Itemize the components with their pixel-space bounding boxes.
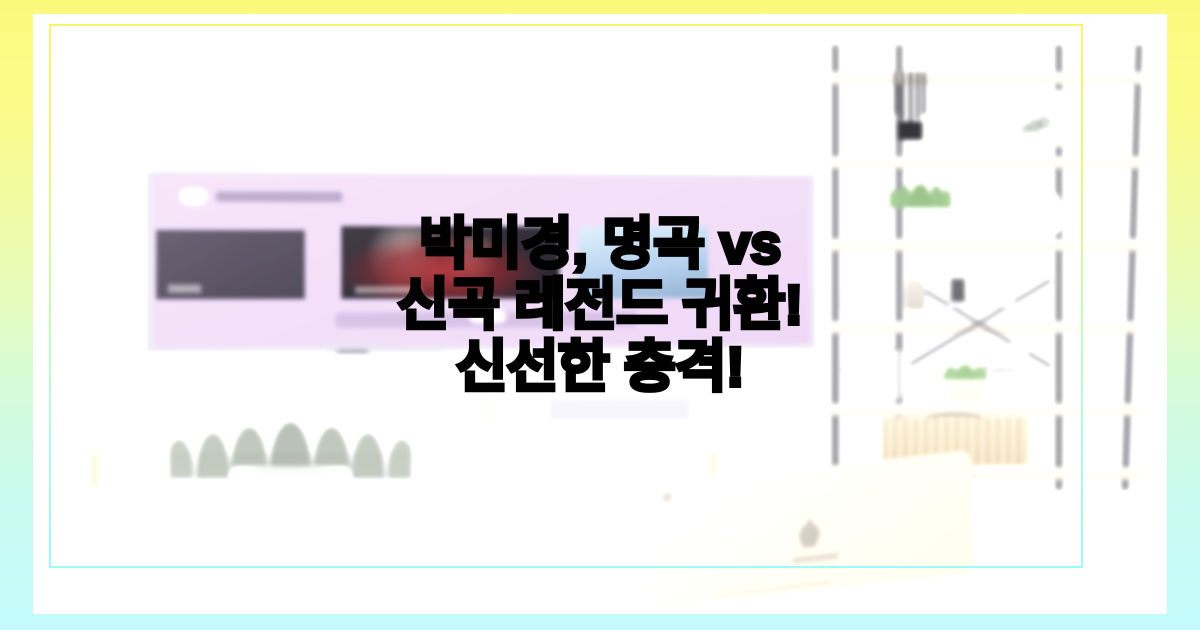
diffuser-sticks bbox=[882, 72, 939, 124]
shelf-board bbox=[829, 72, 1142, 84]
succulent-leaves bbox=[940, 349, 990, 380]
shelf-board bbox=[829, 156, 1142, 168]
inner-plate: Enjoy bbox=[33, 14, 1167, 614]
tablet-camera bbox=[662, 491, 674, 504]
apple-logo-icon bbox=[797, 516, 825, 550]
succulent-plant bbox=[220, 416, 360, 521]
shelving-unit: Enjoy bbox=[822, 45, 1155, 490]
tv-thumbnail-1 bbox=[155, 230, 304, 299]
reed-diffuser bbox=[895, 82, 925, 140]
vase bbox=[905, 279, 925, 310]
potted-plant bbox=[898, 179, 941, 232]
succulent-leaves bbox=[170, 355, 411, 479]
media-cabinet bbox=[58, 353, 793, 453]
succulent-pot bbox=[229, 466, 352, 521]
shelf-post bbox=[832, 45, 839, 490]
plant-pot bbox=[905, 210, 936, 232]
ceramic-bowl bbox=[442, 431, 553, 511]
tv-topbar bbox=[179, 186, 447, 209]
television bbox=[145, 170, 816, 353]
small-lamp bbox=[839, 268, 886, 308]
tv-lower-pill bbox=[469, 310, 506, 324]
picture-frame-art bbox=[995, 101, 1061, 137]
shelf-board bbox=[829, 403, 1142, 415]
plant-leaves bbox=[889, 157, 951, 208]
shelf-post bbox=[1121, 45, 1142, 490]
thumbnail-canvas: Enjoy bbox=[0, 0, 1200, 630]
diffuser-bottle bbox=[898, 121, 922, 140]
tv-app-icon bbox=[179, 188, 207, 205]
tv-thumbnail-3 bbox=[579, 227, 708, 298]
shelf-succulent bbox=[942, 357, 989, 401]
tv-screen bbox=[152, 174, 809, 347]
storage-box bbox=[948, 277, 1015, 308]
tv-app-title bbox=[216, 191, 343, 202]
background-photo: Enjoy bbox=[33, 14, 1167, 614]
cabinet-leg-left bbox=[88, 453, 101, 488]
tablet-wordmark bbox=[792, 552, 839, 565]
cabinet-handle bbox=[486, 378, 493, 429]
tv-thumbnail-2 bbox=[341, 226, 559, 298]
picture-frame bbox=[978, 90, 1078, 148]
table-lamp bbox=[995, 185, 1062, 234]
succulent-pot bbox=[947, 381, 982, 401]
